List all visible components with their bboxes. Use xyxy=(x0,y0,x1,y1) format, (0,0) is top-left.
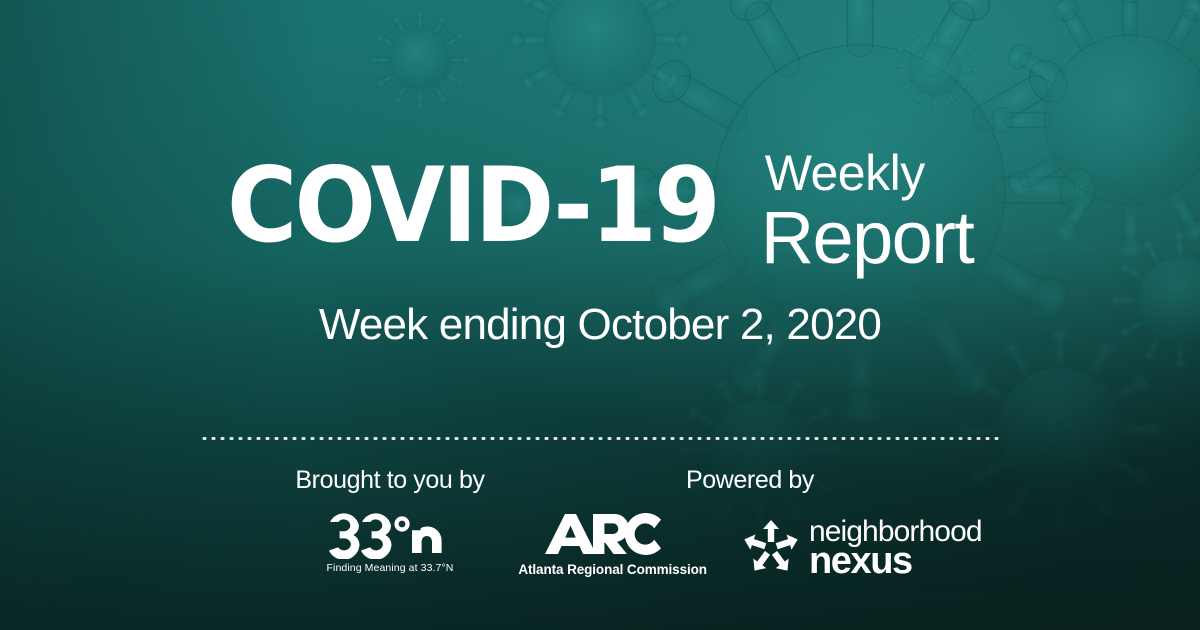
nexus-word-nexus: nexus xyxy=(809,545,982,578)
credit-brought-by: Brought to you by xyxy=(240,468,540,574)
credits-section: Brought to you by xyxy=(0,468,1200,579)
page-title: COVID-19 Weekly Report xyxy=(0,148,1200,275)
powered-by-logos: Atlanta Regional Commission xyxy=(518,507,981,579)
33n-logo[interactable]: Finding Meaning at 33.7°N xyxy=(326,511,454,574)
brought-by-label: Brought to you by xyxy=(295,468,484,493)
radiating-arrows-icon xyxy=(741,517,801,579)
arc-logo-mark xyxy=(543,510,683,558)
headline-report: Report xyxy=(761,200,974,275)
dotted-divider xyxy=(200,437,1000,440)
nexus-wordmark: neighborhood nexus xyxy=(809,519,982,577)
headline-weekly-report: Weekly Report xyxy=(761,148,974,275)
arc-logo-full-name: Atlanta Regional Commission xyxy=(518,562,707,577)
credit-powered-by: Powered by xyxy=(540,468,960,579)
report-date-subtitle: Week ending October 2, 2020 xyxy=(0,300,1200,350)
33n-logo-mark xyxy=(326,511,454,559)
33n-logo-tagline: Finding Meaning at 33.7°N xyxy=(327,562,454,574)
neighborhood-nexus-logo[interactable]: neighborhood nexus xyxy=(741,517,982,579)
powered-by-label: Powered by xyxy=(686,468,814,493)
covid-weekly-report-poster: COVID-19 Weekly Report Week ending Octob… xyxy=(0,0,1200,630)
arc-logo[interactable]: Atlanta Regional Commission xyxy=(518,510,707,577)
headline-weekly: Weekly xyxy=(761,148,925,198)
headline-covid19: COVID-19 xyxy=(227,148,718,254)
